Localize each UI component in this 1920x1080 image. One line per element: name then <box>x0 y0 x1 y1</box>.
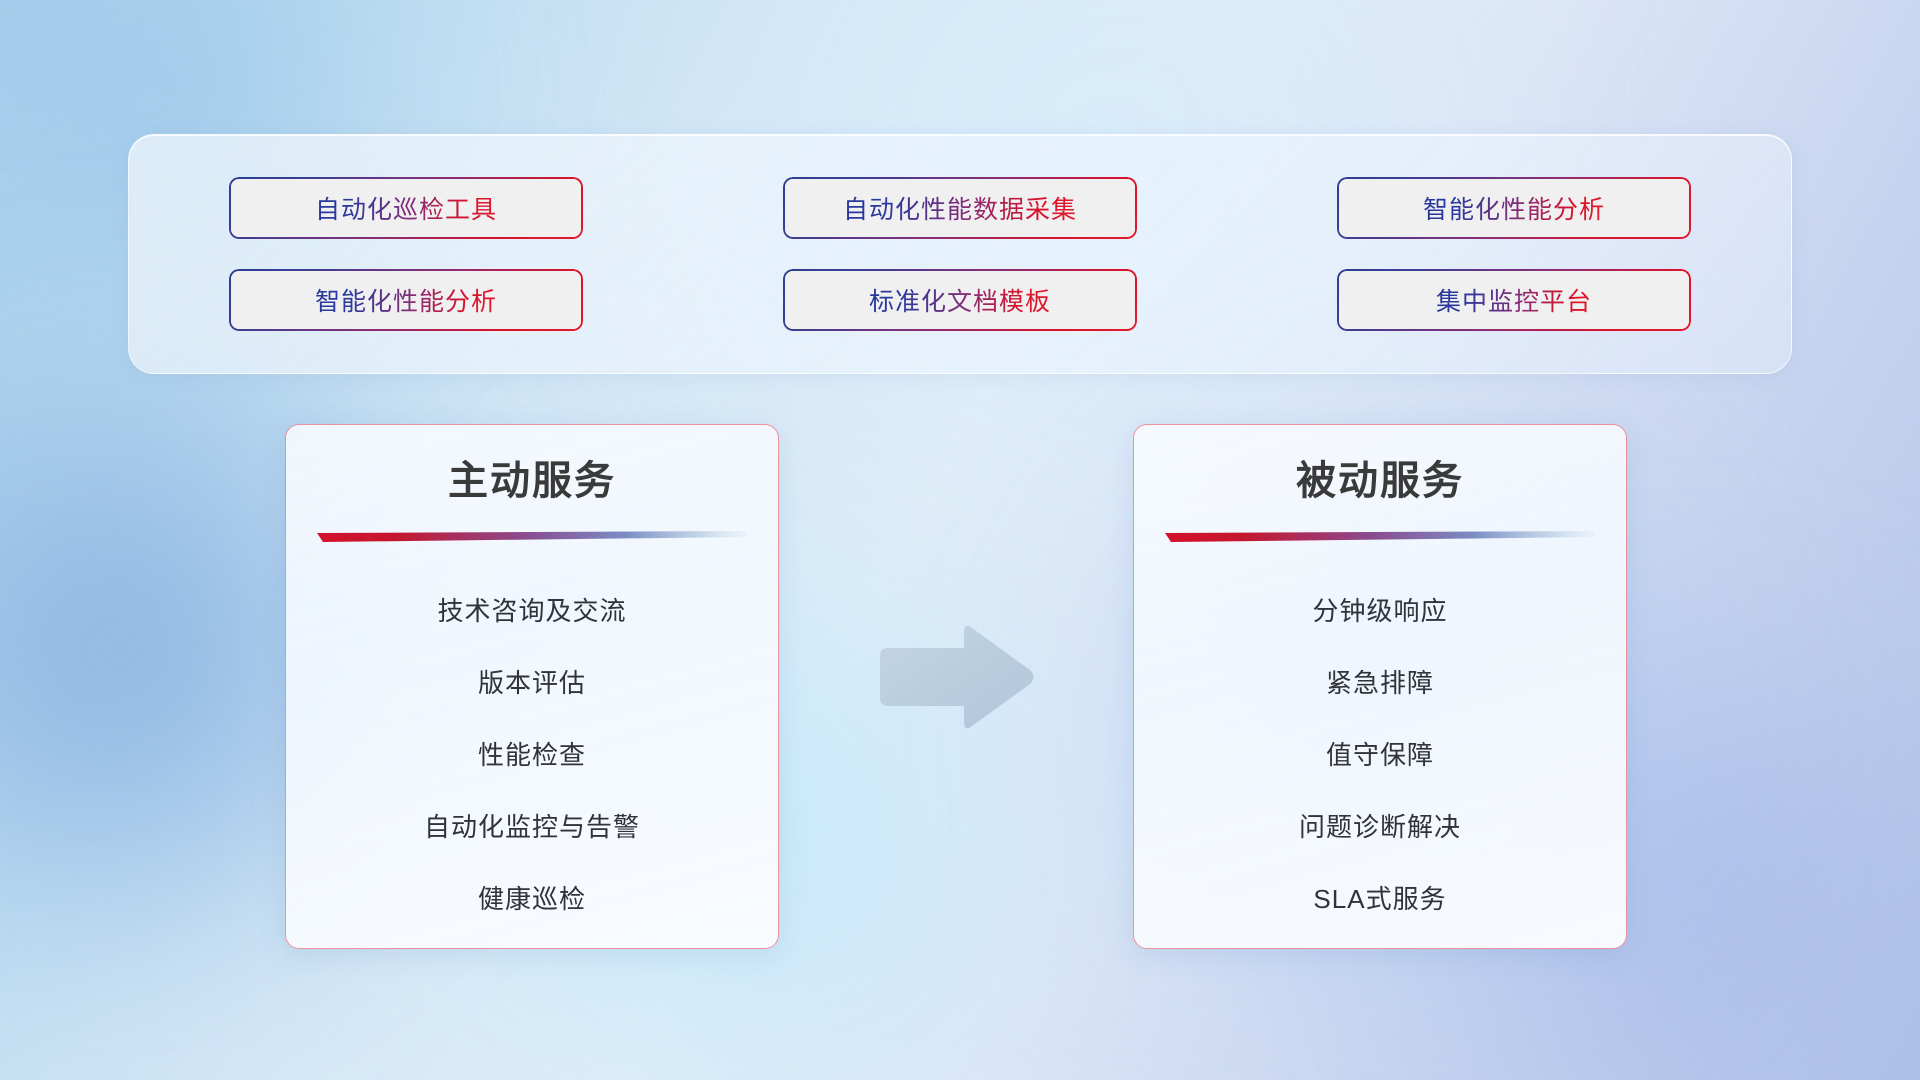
list-item: 紧急排障 <box>1326 647 1434 719</box>
service-card-list: 技术咨询及交流 版本评估 性能检查 自动化监控与告警 健康巡检 <box>286 575 778 935</box>
tag-chip-label: 标准化文档模板 <box>869 282 1051 318</box>
card-divider-shape <box>1165 531 1595 545</box>
list-item: 值守保障 <box>1326 719 1434 791</box>
list-item: 版本评估 <box>478 647 586 719</box>
arrow-right-icon <box>872 620 1037 735</box>
tag-chip-inner: 标准化文档模板 <box>785 271 1135 329</box>
card-divider <box>1165 531 1595 545</box>
capability-tag-panel: 自动化巡检工具 自动化性能数据采集 智能化性能分析 智能化性能分析 <box>128 134 1792 374</box>
tag-chip-inner: 自动化性能数据采集 <box>785 179 1135 237</box>
tag-chip[interactable]: 集中监控平台 <box>1337 269 1691 331</box>
tag-chip-inner: 智能化性能分析 <box>1339 179 1689 237</box>
list-item: SLA式服务 <box>1313 863 1446 935</box>
service-card-title: 被动服务 <box>1296 457 1464 505</box>
tag-chip[interactable]: 自动化性能数据采集 <box>783 177 1137 239</box>
tag-chip-label: 自动化性能数据采集 <box>843 190 1077 226</box>
service-card-active[interactable]: 主动服务 技术咨询及交流 版本评估 性能检查 <box>285 424 779 949</box>
tag-chip-inner: 自动化巡检工具 <box>231 179 581 237</box>
arrow-right-shape <box>872 620 1037 735</box>
service-card-passive[interactable]: 被动服务 分钟级响应 紧急排障 值守保障 <box>1133 424 1627 949</box>
service-card-title: 主动服务 <box>448 457 616 505</box>
list-item: 问题诊断解决 <box>1299 791 1461 863</box>
list-item: 健康巡检 <box>478 863 586 935</box>
list-item: 分钟级响应 <box>1312 575 1447 647</box>
card-divider <box>317 531 747 545</box>
list-item: 技术咨询及交流 <box>437 575 626 647</box>
card-divider-shape <box>317 531 747 545</box>
tag-chip-label: 自动化巡检工具 <box>315 190 497 226</box>
list-item: 自动化监控与告警 <box>424 791 640 863</box>
service-card-list: 分钟级响应 紧急排障 值守保障 问题诊断解决 SLA式服务 <box>1134 575 1626 935</box>
tag-chip-inner: 智能化性能分析 <box>231 271 581 329</box>
list-item: 性能检查 <box>478 719 586 791</box>
diagram-stage: 自动化巡检工具 自动化性能数据采集 智能化性能分析 智能化性能分析 <box>0 0 1920 1080</box>
tag-chip[interactable]: 智能化性能分析 <box>1337 177 1691 239</box>
tag-chip[interactable]: 智能化性能分析 <box>229 269 583 331</box>
tag-chip[interactable]: 自动化巡检工具 <box>229 177 583 239</box>
tag-chip[interactable]: 标准化文档模板 <box>783 269 1137 331</box>
tag-chip-label: 集中监控平台 <box>1436 282 1592 318</box>
tag-chip-inner: 集中监控平台 <box>1339 271 1689 329</box>
tag-row-1: 自动化巡检工具 自动化性能数据采集 智能化性能分析 <box>129 177 1791 239</box>
tag-row-2: 智能化性能分析 标准化文档模板 集中监控平台 <box>129 269 1791 331</box>
tag-chip-label: 智能化性能分析 <box>1423 190 1605 226</box>
tag-chip-label: 智能化性能分析 <box>315 282 497 318</box>
